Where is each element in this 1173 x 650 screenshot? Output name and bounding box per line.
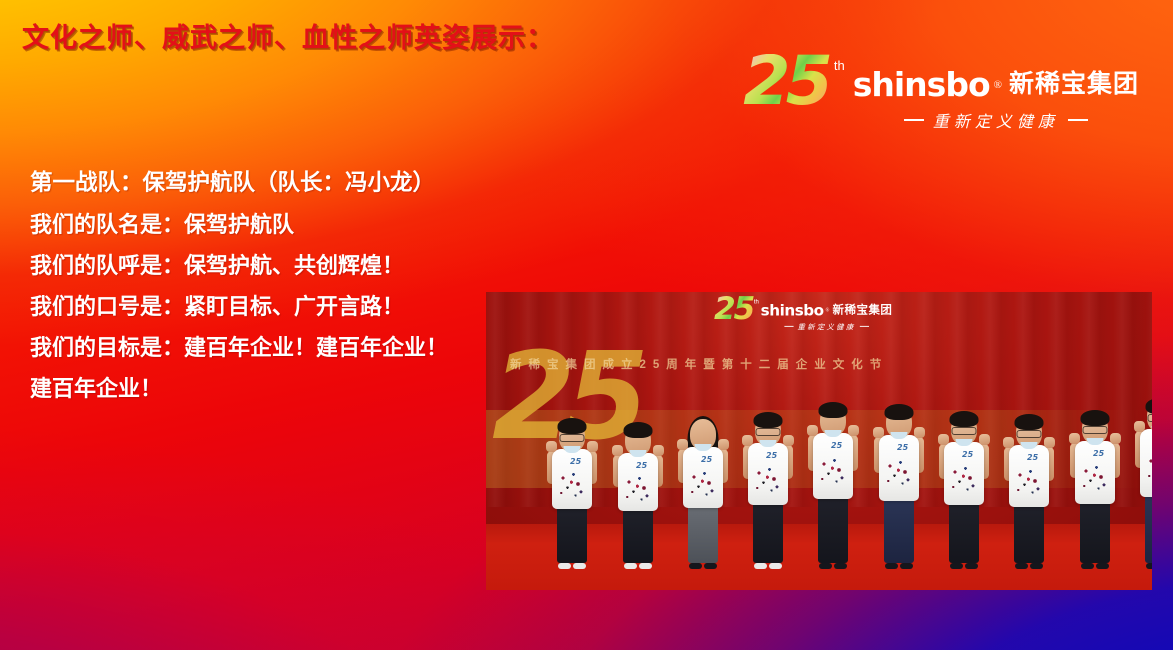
- photo-person: 25: [1000, 415, 1058, 569]
- backdrop-logo-number: 25: [714, 296, 754, 322]
- person-hair: [1015, 414, 1044, 430]
- backdrop-logo-primary-row: shinsbo ® 新稀宝集团: [761, 302, 893, 317]
- person-hair: [819, 402, 848, 418]
- person-left-shoe: [1015, 563, 1028, 569]
- person-trousers: [623, 507, 653, 563]
- person-left-fist: [742, 435, 753, 446]
- person-hair: [754, 412, 783, 428]
- person-trousers: [818, 495, 848, 563]
- tshirt-paint-splash: [884, 457, 914, 487]
- tshirt-paint-splash: [688, 468, 718, 498]
- person-right-fist: [1110, 433, 1121, 444]
- glasses-icon: [560, 434, 585, 442]
- dash-left-icon: [904, 119, 924, 121]
- person-left-fist: [546, 441, 557, 452]
- person-right-shoe: [900, 563, 913, 569]
- person-right-fist: [914, 427, 925, 438]
- logo-primary-row: shinsbo ® 新稀宝集团: [853, 68, 1139, 101]
- person-left-fist: [1069, 433, 1080, 444]
- glasses-icon: [756, 428, 781, 436]
- photo-person: 25: [804, 403, 862, 569]
- person-left-shoe: [950, 563, 963, 569]
- person-right-shoe: [769, 563, 782, 569]
- person-trousers: [688, 504, 718, 563]
- tshirt-paint-splash: [818, 455, 848, 485]
- person-trousers: [1080, 500, 1110, 563]
- team-line-4: 我们的口号是：紧盯目标、广开言路！: [30, 296, 500, 318]
- photo-person: 25: [543, 419, 601, 569]
- team-line-3: 我们的队呼是：保驾护航、共创辉煌！: [30, 255, 500, 277]
- person-hair: [1081, 410, 1110, 426]
- person-right-fist: [653, 445, 664, 456]
- tshirt-print-number: 25: [636, 461, 647, 470]
- person-left-shoe: [885, 563, 898, 569]
- photo-person: 25: [870, 405, 928, 569]
- photo-person: 25: [609, 423, 667, 569]
- person-right-fist: [718, 439, 729, 450]
- tshirt-paint-splash: [753, 464, 783, 494]
- person-hair: [885, 404, 914, 420]
- person-hair: [558, 418, 587, 434]
- team-line-5: 我们的目标是：建百年企业！建百年企业！: [30, 337, 500, 359]
- team-line-6: 建百年企业！: [30, 378, 500, 400]
- tshirt-paint-splash: [949, 463, 979, 493]
- person-right-shoe: [965, 563, 978, 569]
- tshirt-paint-splash: [1080, 462, 1110, 492]
- tshirt-print-number: 25: [831, 441, 842, 450]
- person-right-fist: [1044, 437, 1055, 448]
- person-left-shoe: [1081, 563, 1094, 569]
- photo-person: 25: [1066, 411, 1124, 569]
- slide-background: 文化之师、威武之师、血性之师英姿展示： 25 th shinsbo ® 新稀宝集…: [0, 0, 1173, 650]
- team-line-2: 我们的队名是：保驾护航队: [30, 214, 500, 236]
- person-right-fist: [848, 425, 859, 436]
- photo-people-row: 25252525252525252525: [486, 325, 1152, 569]
- person-left-shoe: [754, 563, 767, 569]
- photo-person: 25: [935, 412, 993, 569]
- person-right-fist: [979, 434, 990, 445]
- person-left-fist: [938, 434, 949, 445]
- tshirt-paint-splash: [557, 469, 587, 499]
- logo-text-block: shinsbo ® 新稀宝集团 重新定义健康: [853, 68, 1139, 132]
- person-right-shoe: [834, 563, 847, 569]
- person-left-fist: [1134, 421, 1145, 432]
- tshirt-paint-splash: [623, 473, 653, 503]
- backdrop-logo-ordinal: th: [754, 298, 759, 305]
- person-left-shoe: [819, 563, 832, 569]
- photo-person: 25: [674, 417, 732, 569]
- glasses-icon: [1017, 430, 1042, 438]
- person-trousers: [949, 501, 979, 563]
- backdrop-registered-icon: ®: [825, 307, 829, 313]
- glasses-icon: [952, 427, 977, 435]
- logo-tagline: 重新定义健康: [933, 108, 1059, 132]
- dash-right-icon: [1068, 119, 1088, 121]
- person-trousers: [884, 497, 914, 563]
- person-left-fist: [1003, 437, 1014, 448]
- person-left-fist: [612, 445, 623, 456]
- glasses-icon: [1083, 426, 1108, 434]
- person-left-shoe: [558, 563, 571, 569]
- logo-company-name-cn: 新稀宝集团: [1009, 72, 1139, 97]
- person-hair: [624, 422, 653, 438]
- page-title: 文化之师、威武之师、血性之师英姿展示：: [22, 16, 554, 55]
- person-right-fist: [783, 435, 794, 446]
- person-right-shoe: [1030, 563, 1043, 569]
- person-trousers: [557, 505, 587, 563]
- tshirt-print-number: 25: [570, 457, 581, 466]
- team-description-block: 第一战队：保驾护航队（队长：冯小龙） 我们的队名是：保驾护航队 我们的队呼是：保…: [30, 172, 500, 419]
- brand-logo: 25 th shinsbo ® 新稀宝集团 重新定义健康: [743, 54, 1139, 132]
- logo-tagline-row: 重新定义健康: [853, 108, 1139, 132]
- person-left-shoe: [689, 563, 702, 569]
- person-left-fist: [807, 425, 818, 436]
- logo-anniversary-number: 25: [743, 54, 830, 110]
- tshirt-paint-splash: [1014, 466, 1044, 496]
- photo-person: 25: [1131, 399, 1152, 569]
- person-left-fist: [873, 427, 884, 438]
- person-right-shoe: [573, 563, 586, 569]
- person-right-shoe: [704, 563, 717, 569]
- backdrop-logo-wordmark: shinsbo: [761, 302, 824, 317]
- person-left-fist: [677, 439, 688, 450]
- tshirt-print-number: 25: [1027, 453, 1038, 462]
- glasses-icon: [1148, 414, 1153, 422]
- backdrop-logo-company-cn: 新稀宝集团: [833, 304, 893, 316]
- tshirt-print-number: 25: [701, 455, 712, 464]
- logo-ordinal-suffix: th: [834, 58, 845, 73]
- team-group-photo: 25 25 th shinsbo ® 新稀宝集团 重新定义健康 新稀宝集团成立2…: [486, 292, 1152, 590]
- photo-person: 25: [739, 413, 797, 569]
- person-hair: [950, 411, 979, 427]
- tshirt-print-number: 25: [897, 443, 908, 452]
- person-left-shoe: [1146, 563, 1152, 569]
- tshirt-print-number: 25: [1093, 449, 1104, 458]
- person-right-shoe: [639, 563, 652, 569]
- person-left-shoe: [624, 563, 637, 569]
- team-line-1: 第一战队：保驾护航队（队长：冯小龙）: [30, 172, 500, 195]
- person-trousers: [1014, 503, 1044, 563]
- person-right-shoe: [1096, 563, 1109, 569]
- tshirt-print-number: 25: [766, 451, 777, 460]
- registered-trademark-icon: ®: [994, 79, 1002, 91]
- tshirt-paint-splash: [1145, 452, 1152, 482]
- person-right-fist: [587, 441, 598, 452]
- logo-wordmark: shinsbo: [853, 68, 990, 101]
- tshirt-print-number: 25: [962, 450, 973, 459]
- person-trousers: [753, 501, 783, 563]
- person-trousers: [1145, 493, 1152, 563]
